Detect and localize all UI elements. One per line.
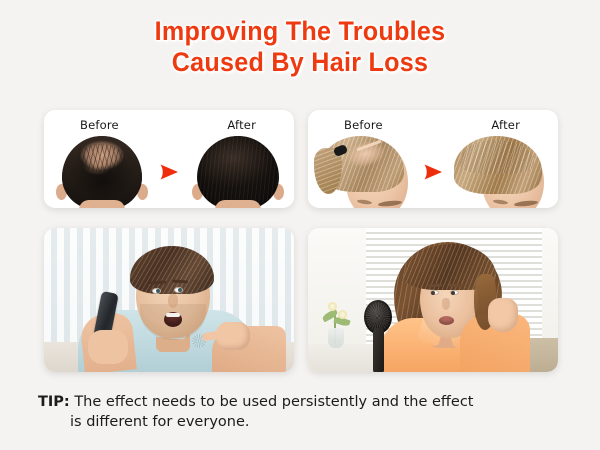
before-label: Before	[80, 118, 119, 132]
photo-man-with-comb	[44, 228, 294, 372]
red-arrow-icon	[159, 164, 179, 181]
before-after-stage-man	[44, 136, 294, 208]
tip-text: TIP: The effect needs to be used persist…	[38, 392, 568, 432]
before-label: Before	[344, 118, 383, 132]
page-title: Improving The Troubles Caused By Hair Lo…	[0, 16, 600, 78]
before-image-man	[50, 136, 154, 208]
tip-line-2: is different for everyone.	[70, 412, 568, 432]
round-brush-icon	[364, 300, 392, 372]
after-image-woman	[450, 136, 554, 208]
tip-label: TIP:	[38, 394, 70, 410]
photo-woman-with-brush	[308, 228, 558, 372]
before-after-card-woman: Before After	[308, 110, 558, 208]
before-after-labels-man: Before After	[44, 118, 294, 134]
photo-card-man	[44, 228, 294, 372]
after-label: After	[491, 118, 520, 132]
before-image-woman	[314, 136, 418, 208]
title-line-1: Improving The Troubles	[21, 16, 579, 47]
photo-card-woman	[308, 228, 558, 372]
before-after-labels-woman: Before After	[308, 118, 558, 134]
title-line-2: Caused By Hair Loss	[21, 47, 579, 78]
tip-line-1: The effect needs to be used persistently…	[74, 394, 473, 410]
after-image-man	[186, 136, 290, 208]
red-arrow-icon	[423, 164, 443, 181]
before-after-card-man: Before After	[44, 110, 294, 208]
before-after-stage-woman	[308, 136, 558, 208]
after-label: After	[227, 118, 256, 132]
